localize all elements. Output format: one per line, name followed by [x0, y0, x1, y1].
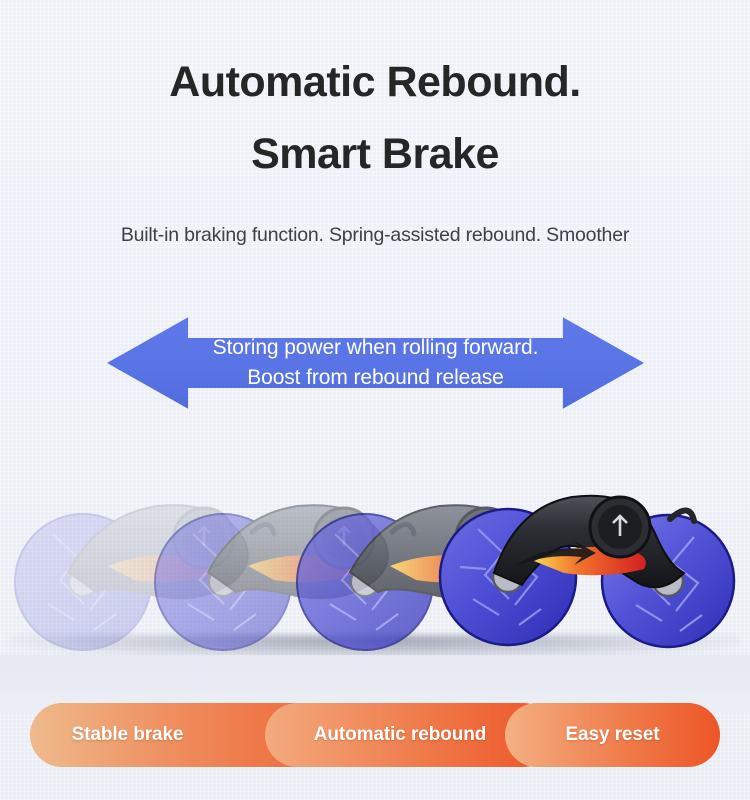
feature-pill-label: Stable brake [72, 724, 184, 746]
double-arrow-banner: Storing power when rolling forward. Boos… [107, 311, 644, 415]
arrow-banner-text: Storing power when rolling forward. Boos… [107, 333, 644, 393]
device-solid-4 [430, 449, 750, 654]
page-subtitle: Built-in braking function. Spring-assist… [0, 224, 750, 247]
feature-pill-easy-reset[interactable]: Easy reset [505, 703, 720, 767]
page-title-line-2: Smart Brake [0, 128, 750, 180]
product-motion-sequence [0, 440, 750, 690]
feature-pill-bar: Stable brake Automatic rebound Easy rese… [0, 703, 750, 771]
feature-pill-label: Easy reset [565, 724, 659, 746]
promo-page: Automatic Rebound. Smart Brake Built-in … [0, 0, 750, 800]
page-title-line-1: Automatic Rebound. [0, 56, 750, 108]
feature-pill-label: Automatic rebound [314, 724, 486, 746]
arrow-banner-line-1: Storing power when rolling forward. [107, 333, 644, 363]
arrow-banner-line-2: Boost from rebound release [107, 363, 644, 393]
